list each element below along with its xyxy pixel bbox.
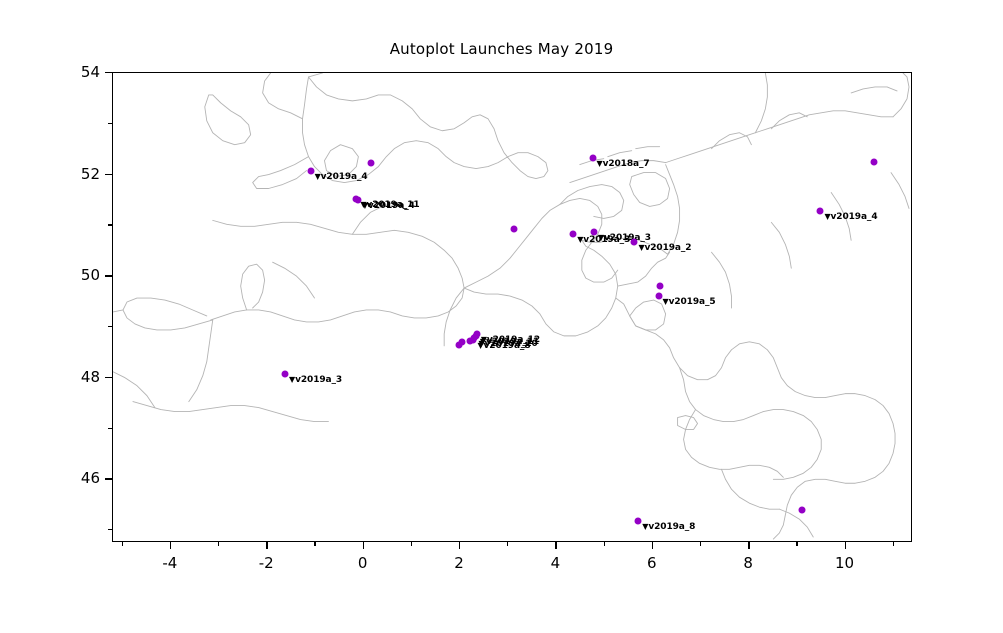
y-tick-major <box>105 275 112 276</box>
y-tick-label: 54 <box>64 63 100 81</box>
x-tick-minor <box>604 542 605 546</box>
scatter-point[interactable] <box>871 158 878 165</box>
scatter-point[interactable] <box>510 226 517 233</box>
scatter-point[interactable] <box>635 518 642 525</box>
y-tick-major <box>105 377 112 378</box>
x-tick-label: 6 <box>647 554 657 572</box>
scatter-point[interactable] <box>589 154 596 161</box>
x-tick-label: -4 <box>162 554 177 572</box>
x-tick-minor <box>507 542 508 546</box>
y-tick-label: 50 <box>64 266 100 284</box>
label-text: v2019a_4 <box>368 201 415 211</box>
scatter-point[interactable] <box>466 338 473 345</box>
x-tick-minor <box>314 542 315 546</box>
y-tick-major <box>105 174 112 175</box>
label-text: v2019a_8 <box>484 341 531 351</box>
scatter-point[interactable] <box>456 341 463 348</box>
scatter-point[interactable] <box>656 283 663 290</box>
scatter-point-label: ▼v2019a_4 <box>315 172 368 182</box>
y-tick-major <box>105 72 112 73</box>
y-tick-minor <box>108 428 112 429</box>
x-tick-major <box>170 542 171 549</box>
scatter-point-label: ▼v2019a_3 <box>598 233 651 243</box>
scatter-point[interactable] <box>354 197 361 204</box>
x-tick-minor <box>411 542 412 546</box>
y-tick-label: 46 <box>64 469 100 487</box>
scatter-points-layer: ▼v2019a_4▼v2019a_11▼v2019a_4▼v2018a_7▼v2… <box>113 73 911 541</box>
label-text: v2019a_5 <box>669 297 716 307</box>
scatter-point-label: ▼v2019a_5 <box>663 297 716 307</box>
scatter-point[interactable] <box>590 228 597 235</box>
label-text: v2019a_8 <box>648 522 695 532</box>
x-tick-minor <box>893 542 894 546</box>
x-tick-label: -2 <box>259 554 274 572</box>
y-tick-label: 48 <box>64 368 100 386</box>
scatter-point[interactable] <box>367 160 374 167</box>
label-text: v2019a_4 <box>831 212 878 222</box>
x-tick-label: 8 <box>743 554 753 572</box>
label-text: v2019a_2 <box>645 243 692 253</box>
x-tick-minor <box>796 542 797 546</box>
x-tick-label: 2 <box>454 554 464 572</box>
x-tick-major <box>459 542 460 549</box>
x-tick-major <box>652 542 653 549</box>
y-tick-major <box>105 478 112 479</box>
scatter-point-label: ▼v2019a_3 <box>289 375 342 385</box>
scatter-point[interactable] <box>570 231 577 238</box>
label-text: v2019a_3 <box>295 375 342 385</box>
x-tick-label: 0 <box>358 554 368 572</box>
y-tick-minor <box>108 326 112 327</box>
x-tick-major <box>555 542 556 549</box>
x-tick-minor <box>122 542 123 546</box>
y-tick-minor <box>108 224 112 225</box>
x-tick-minor <box>700 542 701 546</box>
scatter-point-label: ▼v2019a_4 <box>362 201 415 211</box>
map-axes[interactable]: ▼v2019a_4▼v2019a_11▼v2019a_4▼v2018a_7▼v2… <box>112 72 912 542</box>
y-tick-label: 52 <box>64 165 100 183</box>
scatter-point[interactable] <box>799 506 806 513</box>
label-text: v2019a_3 <box>604 233 651 243</box>
x-tick-label: 4 <box>551 554 561 572</box>
scatter-point-label: ▼v2019a_4 <box>824 212 877 222</box>
scatter-point[interactable] <box>282 370 289 377</box>
figure-canvas: Autoplot Launches May 2019 <box>0 0 1003 633</box>
page-title: Autoplot Launches May 2019 <box>0 40 1003 58</box>
y-tick-minor <box>108 529 112 530</box>
scatter-point[interactable] <box>307 167 314 174</box>
scatter-point[interactable] <box>631 238 638 245</box>
label-text: v2018a_7 <box>603 159 650 169</box>
label-text: v2019a_4 <box>321 172 368 182</box>
y-tick-minor <box>108 123 112 124</box>
x-tick-label: 10 <box>835 554 854 572</box>
x-tick-major <box>748 542 749 549</box>
scatter-point[interactable] <box>655 292 662 299</box>
scatter-point-label: ▼v2019a_8 <box>642 522 695 532</box>
x-tick-major <box>845 542 846 549</box>
scatter-point-label: ▼v2018a_7 <box>597 159 650 169</box>
scatter-point-label: ▼v2019a_2 <box>638 243 691 253</box>
x-tick-major <box>266 542 267 549</box>
x-tick-minor <box>218 542 219 546</box>
x-tick-major <box>363 542 364 549</box>
scatter-point[interactable] <box>817 208 824 215</box>
scatter-point-label: ▼v2019a_8 <box>477 341 530 351</box>
